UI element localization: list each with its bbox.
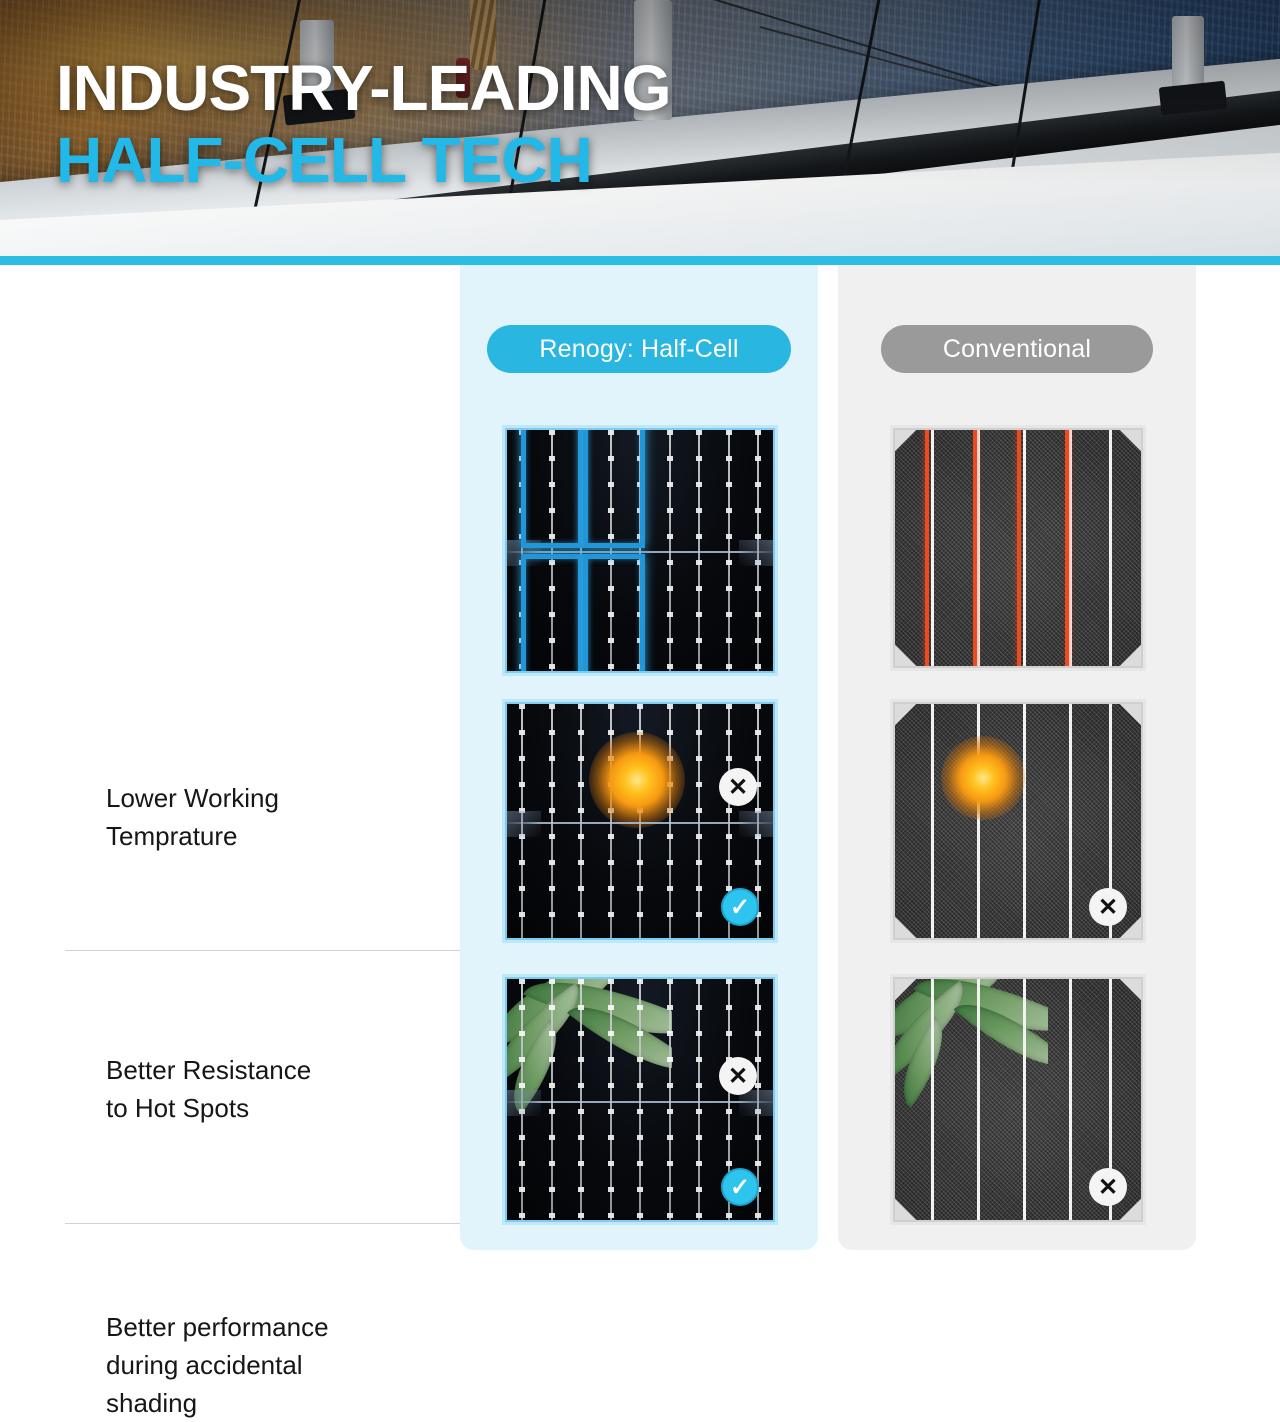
busbar (1069, 430, 1072, 666)
check-icon: ✓ (721, 1168, 759, 1206)
current-path-overlay-blue (583, 428, 645, 548)
row-label-accidental-shading: Better performance during accidental sha… (106, 1308, 456, 1422)
check-icon: ✓ (721, 888, 759, 926)
busbar (551, 979, 553, 1220)
row-label-line: to Hot Spots (106, 1089, 456, 1127)
busbar (669, 979, 671, 1220)
row-divider (65, 1223, 460, 1224)
cell-bevel (507, 811, 541, 837)
current-path-overlay-red (1017, 428, 1069, 668)
busbar (1023, 704, 1026, 938)
hotspot-glow (941, 736, 1025, 820)
comparison-table: Renogy: Half-Cell Conventional Lower Wor… (0, 265, 1280, 1280)
busbar (610, 979, 612, 1220)
cell-image-conventional-row2: ✕ (893, 702, 1143, 940)
busbar (698, 979, 700, 1220)
current-path-overlay-blue (583, 554, 645, 673)
busbar (698, 704, 700, 938)
x-icon: ✕ (719, 1057, 757, 1095)
busbar (1023, 979, 1026, 1220)
row-label-line: Temprature (106, 817, 456, 855)
hero-banner: INDUSTRY-LEADING HALF-CELL TECH (0, 0, 1280, 256)
busbar (1069, 704, 1072, 938)
x-icon: ✕ (1089, 1168, 1127, 1206)
row-label-line: Lower Working (106, 779, 456, 817)
half-cell-split-line (507, 551, 773, 553)
row-label-line: Better performance (106, 1308, 456, 1346)
cell-image-renogy-row2: ✕ ✓ (505, 702, 775, 940)
hero-title-line2: HALF-CELL TECH (56, 124, 671, 196)
busbar (580, 979, 582, 1220)
row-label-line: shading (106, 1384, 456, 1422)
cell-bevel (739, 540, 773, 566)
busbar (931, 979, 934, 1220)
busbar (1109, 430, 1112, 666)
current-path-overlay-blue (521, 554, 583, 673)
current-path-overlay-red (925, 428, 977, 668)
busbar (669, 704, 671, 938)
busbar (580, 704, 582, 938)
column-header-renogy: Renogy: Half-Cell (487, 325, 791, 373)
cell-bevel (507, 1090, 541, 1116)
half-cell-split-line (507, 1101, 773, 1103)
busbar (639, 979, 641, 1220)
hero-title-line1: INDUSTRY-LEADING (56, 52, 671, 124)
busbar (931, 704, 934, 938)
column-header-conventional: Conventional (881, 325, 1153, 373)
row-divider (65, 950, 460, 951)
cell-image-conventional-row1 (893, 428, 1143, 668)
row-label-lower-working-temperature: Lower Working Temprature (106, 779, 456, 855)
busbar (1069, 979, 1072, 1220)
hotspot-glow (589, 732, 685, 828)
infographic-page: INDUSTRY-LEADING HALF-CELL TECH Renogy: … (0, 0, 1280, 1280)
x-icon: ✕ (719, 768, 757, 806)
x-icon: ✕ (1089, 888, 1127, 926)
cell-image-renogy-row3: ✕ ✓ (505, 977, 775, 1222)
half-cell-split-line (507, 822, 773, 824)
row-label-line: Better Resistance (106, 1051, 456, 1089)
hero-title: INDUSTRY-LEADING HALF-CELL TECH (56, 52, 671, 196)
busbar (551, 704, 553, 938)
busbar (977, 979, 980, 1220)
row-label-hot-spot-resistance: Better Resistance to Hot Spots (106, 1051, 456, 1127)
cell-image-conventional-row3: ✕ (893, 977, 1143, 1222)
current-path-overlay-blue (521, 428, 583, 548)
cell-bevel (739, 811, 773, 837)
row-label-line: during accidental (106, 1346, 456, 1384)
busbar (977, 430, 980, 666)
hero-accent-rule (0, 256, 1280, 265)
cell-image-renogy-row1 (505, 428, 775, 673)
